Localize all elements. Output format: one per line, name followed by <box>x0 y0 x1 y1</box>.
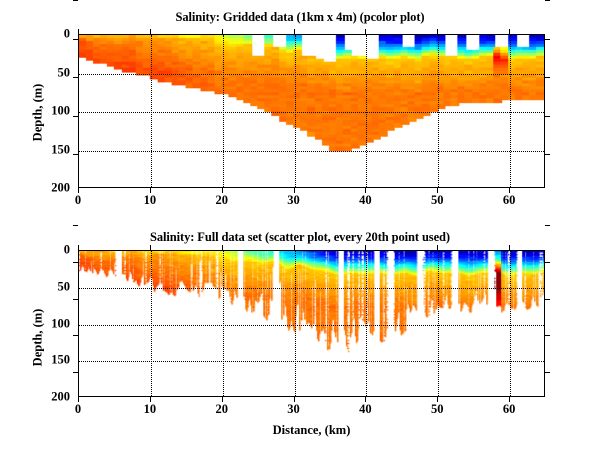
x-tick-mark-top <box>222 29 223 34</box>
y-tick-mark <box>73 154 78 155</box>
x-tick-mark-top <box>365 245 366 250</box>
y-tick-mark <box>73 225 78 226</box>
panel-gridded: Salinity: Gridded data (1km x 4m) (pcolo… <box>0 0 600 215</box>
y-tick-mark-right <box>545 299 550 300</box>
x-tick-mark-top <box>78 245 79 250</box>
y-tick-label: 50 <box>0 65 70 80</box>
x-tick-label: 30 <box>287 193 300 208</box>
y-tick-label: 0 <box>0 243 70 258</box>
x-tick-mark-top <box>509 245 510 250</box>
y-tick-mark <box>73 0 78 1</box>
x-tick-label: 60 <box>503 402 516 417</box>
scatter-axes <box>78 250 545 397</box>
y-tick-label: 100 <box>0 104 70 119</box>
y-tick-mark <box>73 262 78 263</box>
gridded-gridlines <box>79 35 544 187</box>
y-tick-mark-right <box>545 335 550 336</box>
x-tick-mark-top <box>222 245 223 250</box>
x-tick-label: 20 <box>215 402 228 417</box>
gridline-vertical <box>295 35 296 187</box>
y-tick-mark <box>73 372 78 373</box>
x-tick-mark-top <box>365 29 366 34</box>
y-tick-mark-right <box>545 372 550 373</box>
x-tick-mark-top <box>437 245 438 250</box>
x-tick-label: 10 <box>144 193 157 208</box>
y-tick-mark-right <box>545 262 550 263</box>
y-tick-mark <box>73 299 78 300</box>
y-tick-label: 0 <box>0 27 70 42</box>
gridline-horizontal <box>79 325 544 326</box>
x-tick-label: 0 <box>75 402 81 417</box>
gridline-vertical <box>366 35 367 187</box>
x-tick-mark-top <box>150 29 151 34</box>
scatter-plot-title: Salinity: Full data set (scatter plot, e… <box>0 230 600 245</box>
y-tick-mark-right <box>545 154 550 155</box>
x-tick-label: 40 <box>359 402 372 417</box>
scatter-y-axis-label: Depth, (m) <box>31 293 46 383</box>
x-tick-mark-top <box>437 29 438 34</box>
gridline-vertical <box>151 35 152 187</box>
x-tick-label: 50 <box>431 193 444 208</box>
x-tick-label: 60 <box>503 193 516 208</box>
y-tick-mark-right <box>545 225 550 226</box>
x-tick-mark-top <box>78 29 79 34</box>
x-tick-label: 30 <box>287 402 300 417</box>
y-tick-label: 150 <box>0 142 70 157</box>
gridline-vertical <box>151 251 152 396</box>
y-tick-label: 50 <box>0 279 70 294</box>
y-tick-mark-right <box>545 116 550 117</box>
gridline-vertical <box>223 35 224 187</box>
x-tick-label: 0 <box>75 193 81 208</box>
y-tick-mark <box>73 39 78 40</box>
gridline-vertical <box>366 251 367 396</box>
x-tick-label: 50 <box>431 402 444 417</box>
gridline-vertical <box>510 251 511 396</box>
gridline-horizontal <box>79 151 544 152</box>
x-tick-label: 20 <box>215 193 228 208</box>
gridline-vertical <box>438 251 439 396</box>
y-tick-mark-right <box>545 77 550 78</box>
x-tick-mark-top <box>294 245 295 250</box>
x-tick-label: 10 <box>144 402 157 417</box>
y-tick-label: 200 <box>0 390 70 405</box>
gridded-axes <box>78 34 545 188</box>
y-tick-label: 150 <box>0 353 70 368</box>
y-tick-mark-right <box>545 39 550 40</box>
y-tick-mark-right <box>545 0 550 1</box>
x-tick-mark-top <box>150 245 151 250</box>
y-tick-mark <box>73 116 78 117</box>
gridded-plot-title: Salinity: Gridded data (1km x 4m) (pcolo… <box>0 10 600 25</box>
x-tick-mark-top <box>294 29 295 34</box>
gridline-horizontal <box>79 288 544 289</box>
gridline-horizontal <box>79 361 544 362</box>
figure-root: Salinity: Gridded data (1km x 4m) (pcolo… <box>0 0 600 451</box>
gridline-horizontal <box>79 112 544 113</box>
y-tick-label: 200 <box>0 181 70 196</box>
y-tick-mark <box>73 77 78 78</box>
gridline-vertical <box>223 251 224 396</box>
x-tick-label: 40 <box>359 193 372 208</box>
y-tick-mark <box>73 335 78 336</box>
panel-scatter: Salinity: Full data set (scatter plot, e… <box>0 225 600 451</box>
gridline-vertical <box>438 35 439 187</box>
gridline-horizontal <box>79 74 544 75</box>
gridline-vertical <box>510 35 511 187</box>
y-tick-label: 100 <box>0 316 70 331</box>
scatter-gridlines <box>79 251 544 396</box>
x-tick-mark-top <box>509 29 510 34</box>
gridline-vertical <box>295 251 296 396</box>
scatter-x-axis-label: Distance, (km) <box>78 423 545 438</box>
